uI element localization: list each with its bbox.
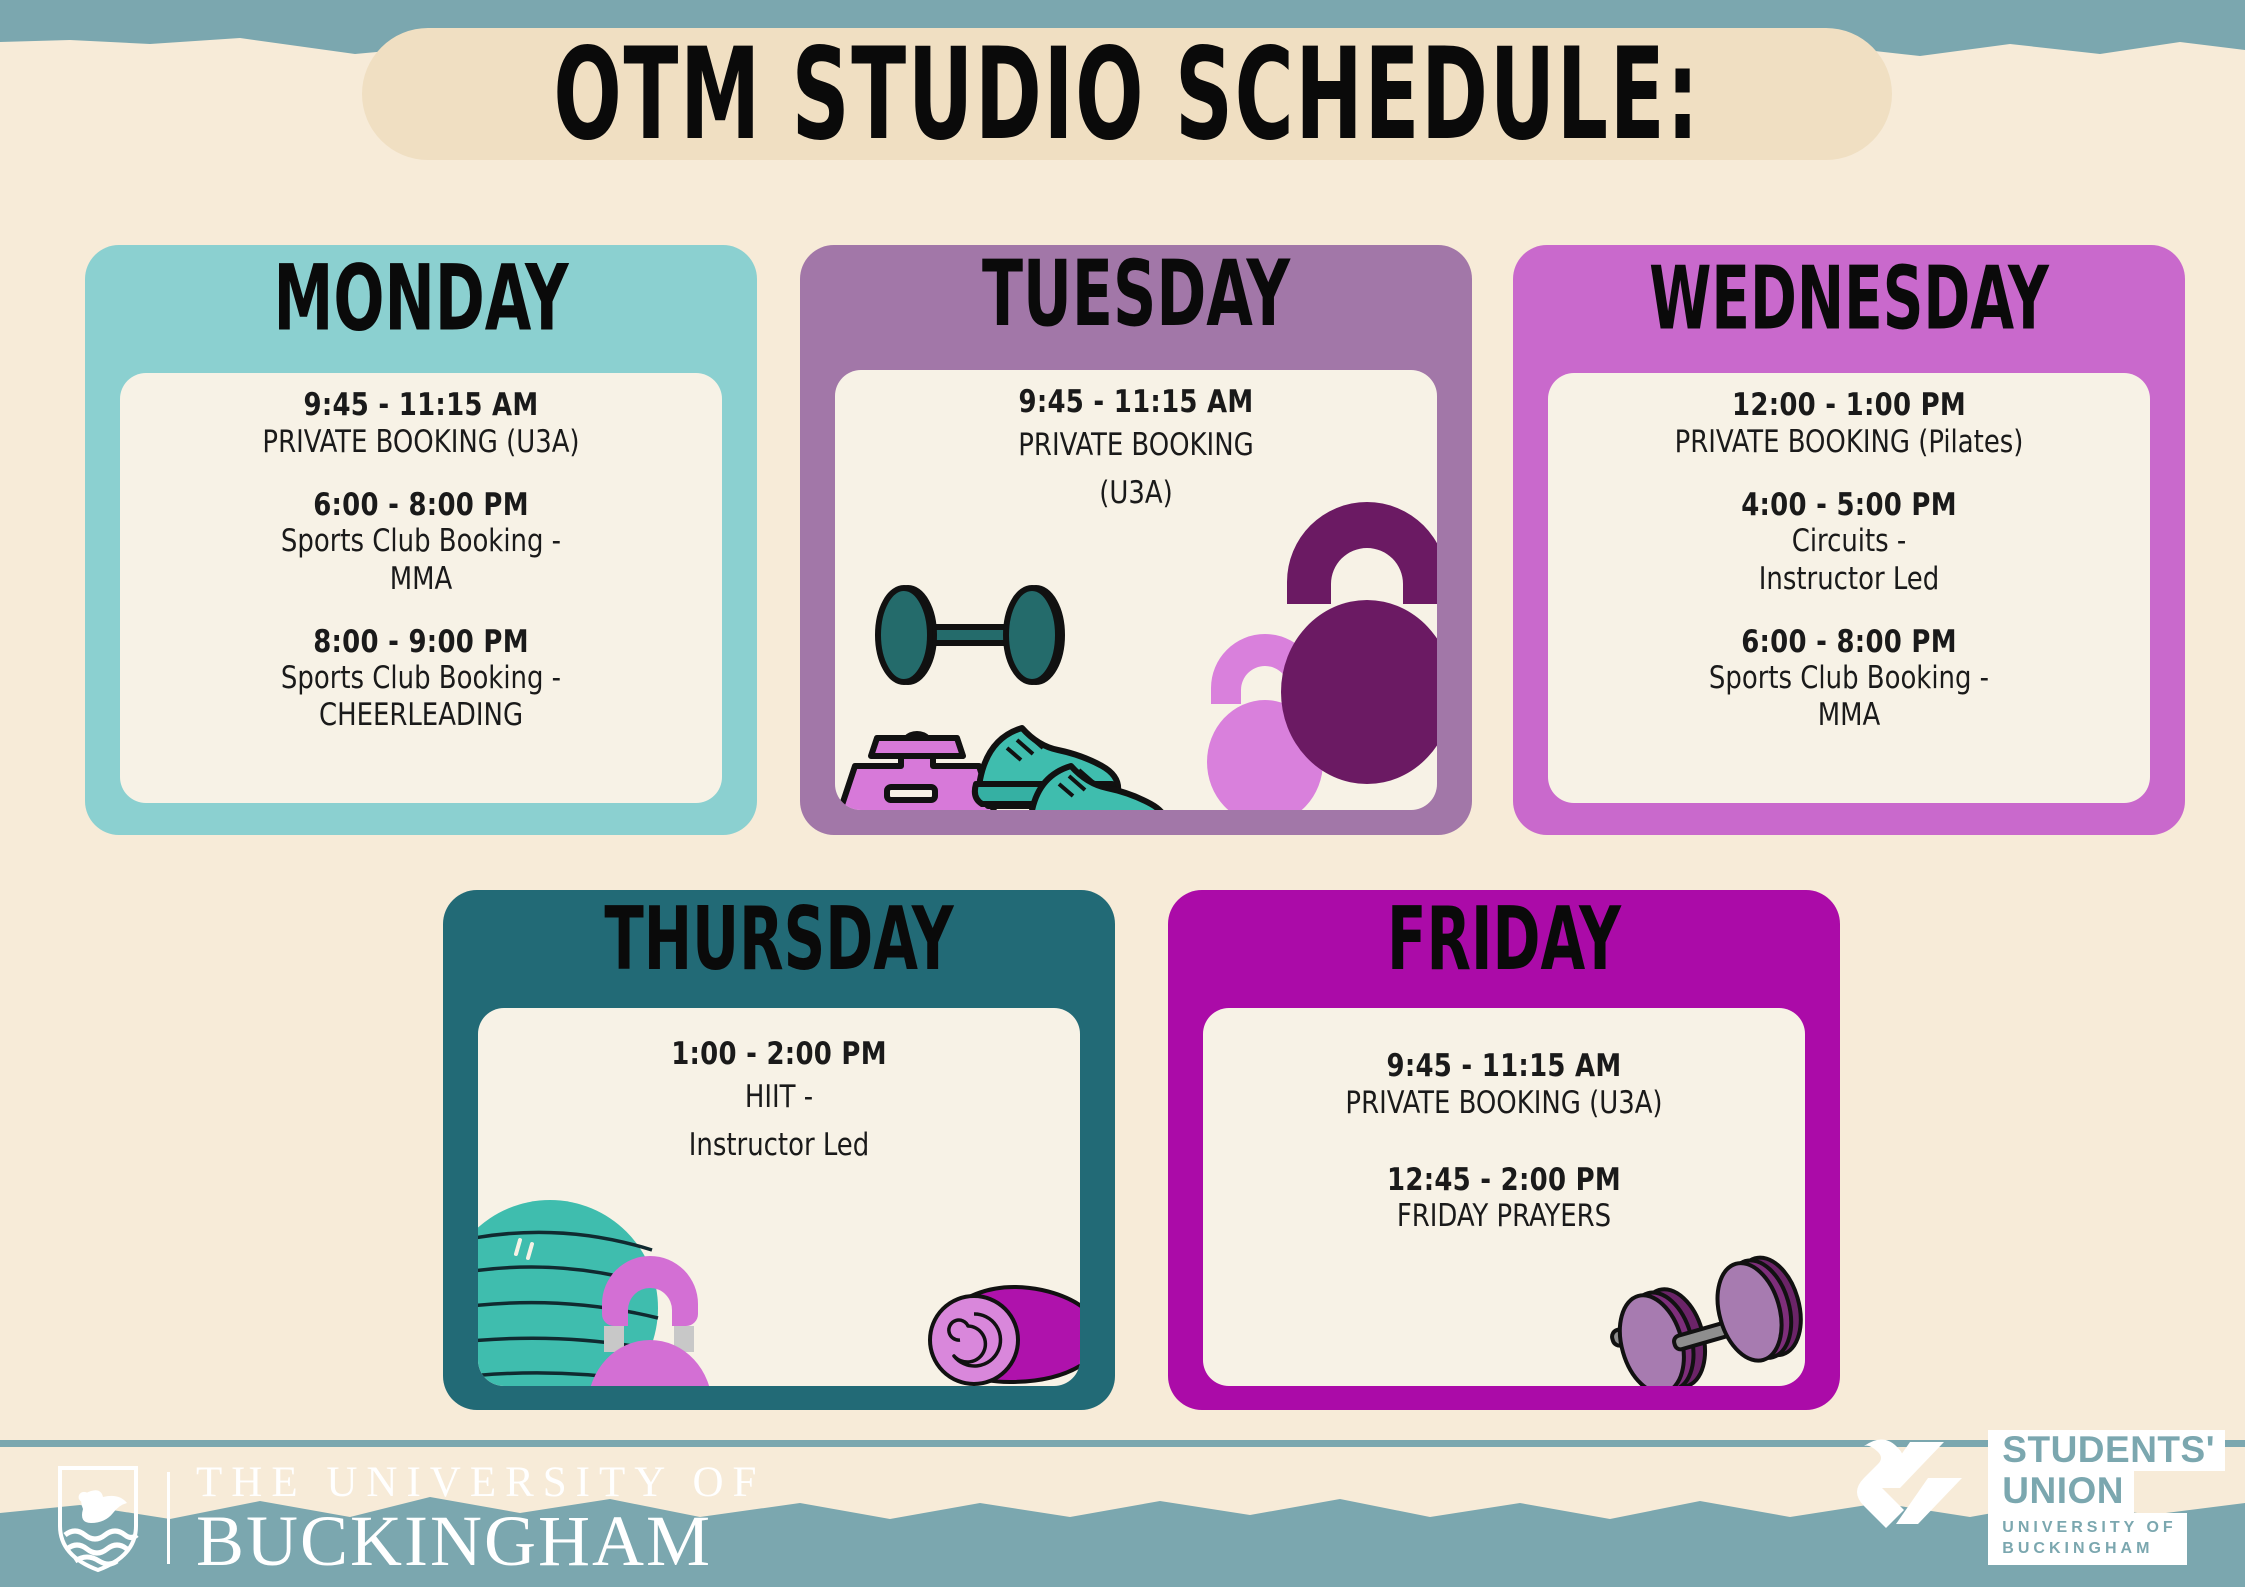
slot-list-thursday: 1:00 - 2:00 PM HIIT -Instructor Led — [478, 1008, 1080, 1169]
university-line-2: BUCKINGHAM — [196, 1505, 765, 1577]
slot-time: 12:45 - 2:00 PM — [1241, 1162, 1767, 1199]
slot-list-monday: 9:45 - 11:15 AM PRIVATE BOOKING (U3A) 6:… — [120, 373, 722, 735]
day-card-wednesday: WEDNESDAY 12:00 - 1:00 PM PRIVATE BOOKIN… — [1513, 245, 2185, 835]
slot-time: 4:00 - 5:00 PM — [1586, 487, 2112, 524]
swan-crest-shield-icon — [55, 1463, 141, 1573]
schedule-slot: 6:00 - 8:00 PM Sports Club Booking -MMA — [138, 487, 704, 598]
dumbbell-icon — [878, 588, 1062, 682]
slot-desc: Sports Club Booking -MMA — [1586, 660, 2112, 734]
kettlebell-icon: 25 — [588, 1256, 712, 1386]
sneakers-icon — [975, 728, 1169, 810]
slot-time: 1:00 - 2:00 PM — [516, 1036, 1042, 1073]
su-line-union: UNION — [1988, 1471, 2134, 1513]
schedule-slot: 9:45 - 11:15 AM PRIVATE BOOKING (U3A) — [138, 387, 704, 461]
university-line-1: THE UNIVERSITY OF — [196, 1460, 765, 1505]
day-title-thursday: THURSDAY — [483, 890, 1074, 984]
slot-desc: PRIVATE BOOKING (U3A) — [1241, 1085, 1767, 1122]
slot-time: 6:00 - 8:00 PM — [158, 487, 684, 524]
day-title-tuesday: TUESDAY — [840, 245, 1431, 340]
day-card-inner-wednesday: 12:00 - 1:00 PM PRIVATE BOOKING (Pilates… — [1548, 373, 2150, 803]
schedule-slot: 12:45 - 2:00 PM FRIDAY PRAYERS — [1221, 1162, 1787, 1236]
schedule-slot: 9:45 - 11:15 AM PRIVATE BOOKING (U3A) — [1221, 1048, 1787, 1122]
slot-time: 9:45 - 11:15 AM — [158, 387, 684, 424]
schedule-slot: 12:00 - 1:00 PM PRIVATE BOOKING (Pilates… — [1566, 387, 2132, 461]
exercise-ball-icon — [478, 1200, 658, 1386]
slot-time: 9:45 - 11:15 AM — [873, 384, 1399, 421]
day-card-inner-monday: 9:45 - 11:15 AM PRIVATE BOOKING (U3A) 6:… — [120, 373, 722, 803]
slot-desc: Sports Club Booking -CHEERLEADING — [158, 660, 684, 734]
schedule-slot: 6:00 - 8:00 PM Sports Club Booking -MMA — [1566, 624, 2132, 735]
slot-time: 6:00 - 8:00 PM — [1586, 624, 2112, 661]
day-title-wednesday: WEDNESDAY — [1560, 245, 2138, 343]
day-card-friday: FRIDAY 9:45 - 11:15 AM PRIVATE BOOKING (… — [1168, 890, 1840, 1410]
kettlebell-large-icon — [1281, 502, 1437, 784]
schedule-slot: 9:45 - 11:15 AM PRIVATE BOOKING(U3A) — [853, 384, 1419, 517]
schedule-slot: 8:00 - 9:00 PM Sports Club Booking -CHEE… — [138, 624, 704, 735]
day-card-inner-tuesday: 9:45 - 11:15 AM PRIVATE BOOKING(U3A) — [835, 370, 1437, 810]
day-card-inner-thursday: 1:00 - 2:00 PM HIIT -Instructor Led — [478, 1008, 1080, 1386]
page-title: OTM STUDIO SCHEDULE: — [553, 20, 1700, 169]
university-wordmark: THE UNIVERSITY OF BUCKINGHAM — [196, 1460, 765, 1577]
day-card-monday: MONDAY 9:45 - 11:15 AM PRIVATE BOOKING (… — [85, 245, 757, 835]
slot-desc: PRIVATE BOOKING (U3A) — [158, 424, 684, 461]
kettlebell-small-icon — [1207, 634, 1323, 810]
slot-desc: FRIDAY PRAYERS — [1241, 1198, 1767, 1235]
slot-desc: PRIVATE BOOKING (Pilates) — [1586, 424, 2112, 461]
slot-list-tuesday: 9:45 - 11:15 AM PRIVATE BOOKING(U3A) — [835, 370, 1437, 517]
day-title-monday: MONDAY — [125, 245, 716, 344]
yoga-mat-icon — [930, 1287, 1080, 1384]
slot-desc: HIIT -Instructor Led — [516, 1073, 1042, 1169]
day-card-inner-friday: 9:45 - 11:15 AM PRIVATE BOOKING (U3A) 12… — [1203, 1008, 1805, 1386]
slot-time: 8:00 - 9:00 PM — [158, 624, 684, 661]
weight-block-icon — [835, 734, 1001, 810]
students-union-wordmark: STUDENTS' UNION UNIVERSITY OFBUCKINGHAM — [1988, 1430, 2225, 1565]
su-swan-mark-icon — [1854, 1430, 1982, 1542]
slot-list-wednesday: 12:00 - 1:00 PM PRIVATE BOOKING (Pilates… — [1548, 373, 2150, 735]
footer: THE UNIVERSITY OF BUCKINGHAM STUDENTS' U… — [0, 1437, 2245, 1587]
su-line-students: STUDENTS' — [1988, 1430, 2225, 1471]
slot-list-friday: 9:45 - 11:15 AM PRIVATE BOOKING (U3A) 12… — [1203, 1008, 1805, 1236]
schedule-slot: 4:00 - 5:00 PM Circuits -Instructor Led — [1566, 487, 2132, 598]
day-card-thursday: THURSDAY 1:00 - 2:00 PM HIIT -Instructor… — [443, 890, 1115, 1410]
slot-desc: PRIVATE BOOKING(U3A) — [873, 421, 1399, 517]
day-title-friday: FRIDAY — [1208, 890, 1799, 984]
barbell-icon — [1609, 1250, 1805, 1386]
su-line-subtitle: UNIVERSITY OFBUCKINGHAM — [1988, 1513, 2186, 1565]
logo-divider — [167, 1472, 170, 1564]
slot-time: 12:00 - 1:00 PM — [1586, 387, 2112, 424]
page-title-banner: OTM STUDIO SCHEDULE: — [362, 28, 1892, 160]
slot-desc: Circuits -Instructor Led — [1586, 523, 2112, 597]
day-card-tuesday: TUESDAY 9:45 - 11:15 AM PRIVATE BOOKING(… — [800, 245, 1472, 835]
schedule-slot: 1:00 - 2:00 PM HIIT -Instructor Led — [496, 1036, 1062, 1169]
slot-time: 9:45 - 11:15 AM — [1241, 1048, 1767, 1085]
university-of-buckingham-logo: THE UNIVERSITY OF BUCKINGHAM — [55, 1460, 765, 1577]
slot-desc: Sports Club Booking -MMA — [158, 523, 684, 597]
students-union-logo: STUDENTS' UNION UNIVERSITY OFBUCKINGHAM — [1854, 1430, 2225, 1565]
